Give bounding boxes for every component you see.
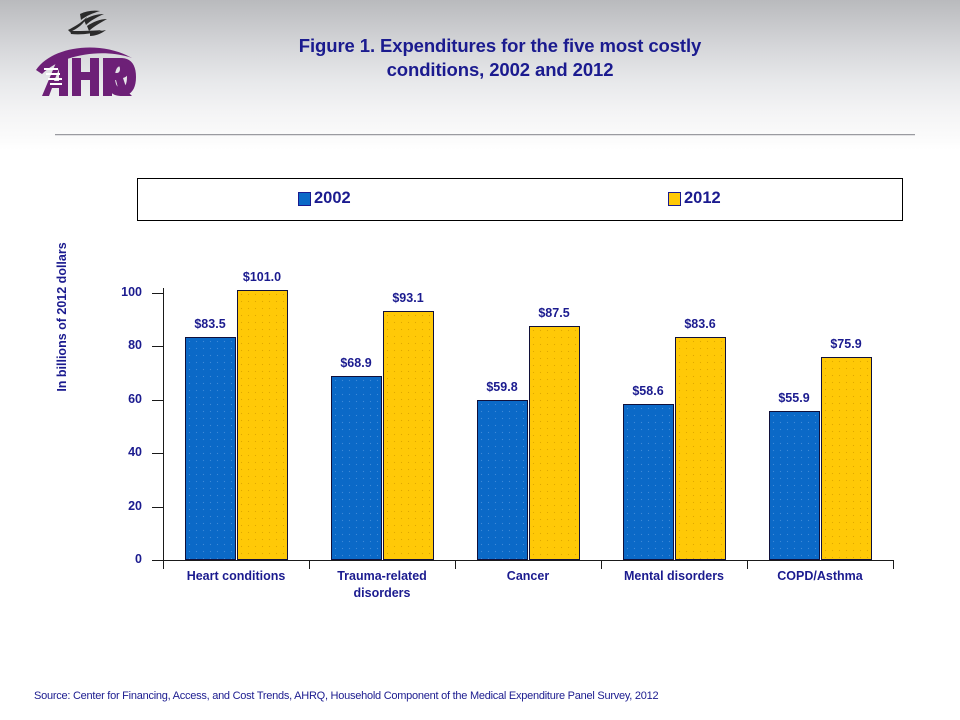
y-tick-label: 40 [82,445,142,459]
bar-2002-3[interactable] [477,400,528,560]
y-tick-label: 100 [82,285,142,299]
y-tick-mark [152,346,164,347]
bar-2012-1[interactable] [237,290,288,560]
y-axis-line [163,288,164,560]
bar-2002-2[interactable] [331,376,382,560]
x-category-label-line: COPD/Asthma [725,568,915,585]
bar-value-label: $93.1 [368,291,448,305]
bar-2012-3[interactable] [529,326,580,560]
source-note: Source: Center for Financing, Access, an… [34,690,658,702]
bar-2012-2[interactable] [383,311,434,560]
y-tick-label: 60 [82,392,142,406]
y-tick-label: 0 [82,552,142,566]
x-axis-line [163,560,893,561]
y-axis-title: In billions of 2012 dollars [55,207,69,427]
y-tick-mark [152,293,164,294]
x-category-label-line: disorders [287,585,477,602]
bar-value-label: $87.5 [514,306,594,320]
bar-value-label: $101.0 [222,270,302,284]
x-category-label: COPD/Asthma [725,568,915,585]
bar-2002-5[interactable] [769,411,820,560]
bar-2012-4[interactable] [675,337,726,560]
bar-2002-1[interactable] [185,337,236,560]
y-tick-mark [152,400,164,401]
y-tick-mark [152,453,164,454]
y-tick-label: 20 [82,499,142,513]
chart-plot-area: In billions of 2012 dollars 020406080100… [0,0,960,720]
bar-value-label: $83.6 [660,317,740,331]
y-tick-mark [152,507,164,508]
bar-2002-4[interactable] [623,404,674,560]
bar-2012-5[interactable] [821,357,872,560]
bar-value-label: $75.9 [806,337,886,351]
y-tick-label: 80 [82,338,142,352]
